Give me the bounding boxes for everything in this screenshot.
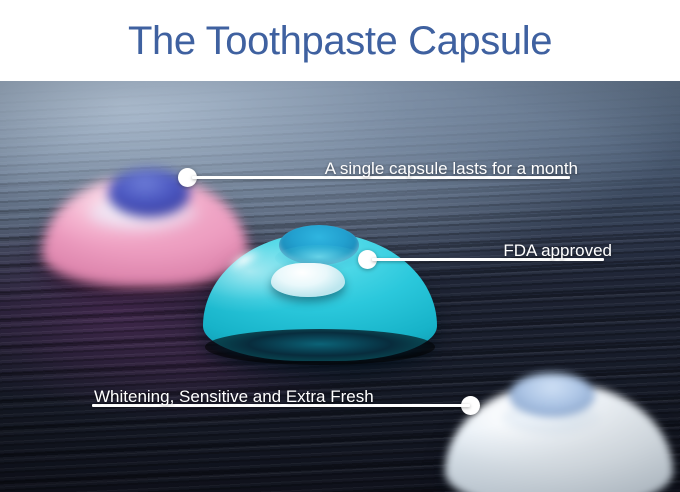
white-capsule-nozzle (509, 373, 595, 417)
page-title: The Toothpaste Capsule (128, 21, 552, 61)
callout-label: A single capsule lasts for a month (325, 160, 578, 177)
infographic-slide: The Toothpaste Capsule (0, 0, 680, 492)
callout-label: FDA approved (503, 242, 612, 259)
callout-whitening-sensitive-extra-fresh: Whitening, Sensitive and Extra Fresh (92, 388, 480, 428)
title-band: The Toothpaste Capsule (0, 0, 680, 81)
callout-single-capsule-month: A single capsule lasts for a month (178, 160, 578, 200)
toothpaste-blob (271, 263, 345, 297)
teal-capsule-rim (205, 329, 435, 365)
teal-capsule (195, 211, 445, 376)
product-photo (0, 81, 680, 492)
callout-label: Whitening, Sensitive and Extra Fresh (94, 388, 374, 405)
callout-fda-approved: FDA approved (358, 242, 612, 282)
